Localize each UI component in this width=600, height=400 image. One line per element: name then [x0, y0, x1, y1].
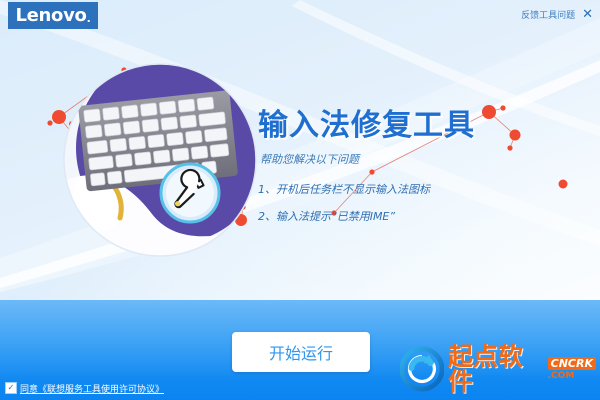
- wrench-badge: [161, 164, 219, 222]
- start-button[interactable]: 开始运行: [232, 332, 370, 372]
- agreement-link[interactable]: 同意《联想服务工具使用许可协议》: [20, 382, 164, 395]
- checkbox-icon[interactable]: ✓: [5, 382, 17, 394]
- page-subtitle: 帮助您解决以下问题: [260, 151, 359, 167]
- keyboard-illustration: [60, 62, 260, 258]
- purple-circle-backdrop: [60, 62, 260, 258]
- page-title: 输入法修复工具: [258, 100, 475, 144]
- watermark-name: 起点软件: [448, 344, 544, 394]
- lenovo-logo-dot: .: [87, 13, 91, 29]
- app-window: Lenovo. 反馈工具问题 ✕ 输入法修复工具 帮助您解决以下问题 1、开机后…: [0, 0, 600, 400]
- window-controls: 反馈工具问题 ✕: [521, 6, 593, 22]
- watermark-badge-text: CNCRK: [548, 357, 596, 370]
- problem-list: 1、开机后任务栏不显示输入法图标 2、输入法提示“已禁用IME”: [258, 170, 430, 224]
- list-item: 1、开机后任务栏不显示输入法图标: [258, 181, 430, 197]
- lenovo-logo-text: Lenovo: [15, 5, 86, 26]
- refresh-circle-icon: [400, 346, 444, 392]
- close-icon[interactable]: ✕: [582, 8, 593, 21]
- watermark-domain-text: .COM: [548, 372, 575, 381]
- feedback-link[interactable]: 反馈工具问题: [521, 8, 575, 21]
- watermark-domain-badge: CNCRK .COM: [548, 357, 596, 381]
- agreement-row[interactable]: ✓ 同意《联想服务工具使用许可协议》: [5, 381, 164, 395]
- hero-panel: Lenovo. 反馈工具问题 ✕ 输入法修复工具 帮助您解决以下问题 1、开机后…: [0, 0, 600, 300]
- lenovo-logo: Lenovo.: [8, 2, 98, 29]
- site-watermark: 起点软件 CNCRK .COM: [400, 344, 596, 394]
- list-item: 2、输入法提示“已禁用IME”: [258, 208, 430, 224]
